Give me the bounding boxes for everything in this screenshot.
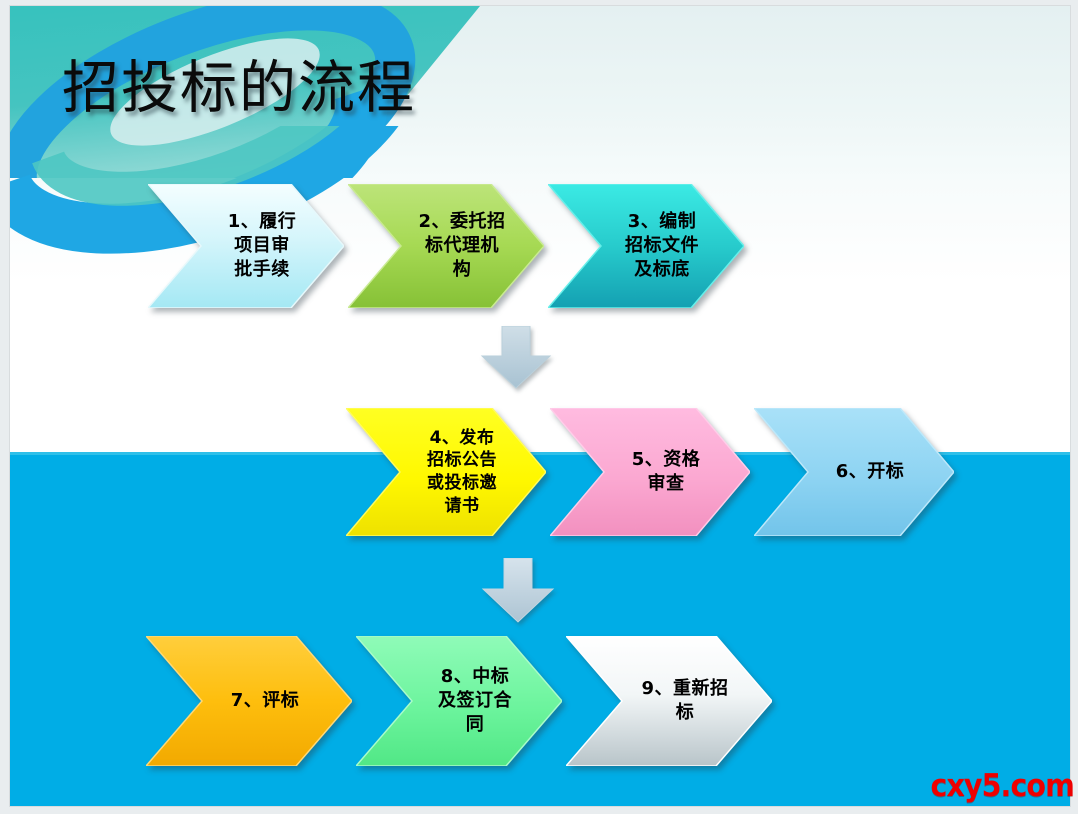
site-watermark: cxy5.com — [931, 768, 1074, 804]
page-title: 招投标的流程 — [62, 42, 416, 124]
arrow-down-icon — [480, 558, 556, 624]
presentation-slide: 招投标的流程 1、履行 项目审 批手续 — [10, 6, 1070, 806]
flow-row-2: 4、发布 招标公告 或投标邀 请书 5、资格 审查 — [346, 408, 996, 536]
flow-step-8[interactable]: 8、中标 及签订合 同 — [356, 636, 562, 766]
flow-row-3: 7、评标 8、中标 及签订合 同 — [146, 636, 806, 766]
connector-1-2 — [480, 326, 552, 390]
connector-2-3 — [480, 558, 556, 624]
flow-step-6[interactable]: 6、开标 — [754, 408, 954, 536]
flow-step-4[interactable]: 4、发布 招标公告 或投标邀 请书 — [346, 408, 546, 536]
flow-step-3[interactable]: 3、编制 招标文件 及标底 — [548, 184, 744, 308]
slide-stage: 招投标的流程 1、履行 项目审 批手续 — [0, 0, 1078, 814]
flow-row-1: 1、履行 项目审 批手续 2、委托招 标代理机 构 — [148, 184, 788, 308]
arrow-down-icon — [480, 326, 552, 390]
flow-step-9[interactable]: 9、重新招 标 — [566, 636, 772, 766]
flow-step-1[interactable]: 1、履行 项目审 批手续 — [148, 184, 344, 308]
flow-step-7[interactable]: 7、评标 — [146, 636, 352, 766]
flow-step-2[interactable]: 2、委托招 标代理机 构 — [348, 184, 544, 308]
flow-step-5[interactable]: 5、资格 审查 — [550, 408, 750, 536]
